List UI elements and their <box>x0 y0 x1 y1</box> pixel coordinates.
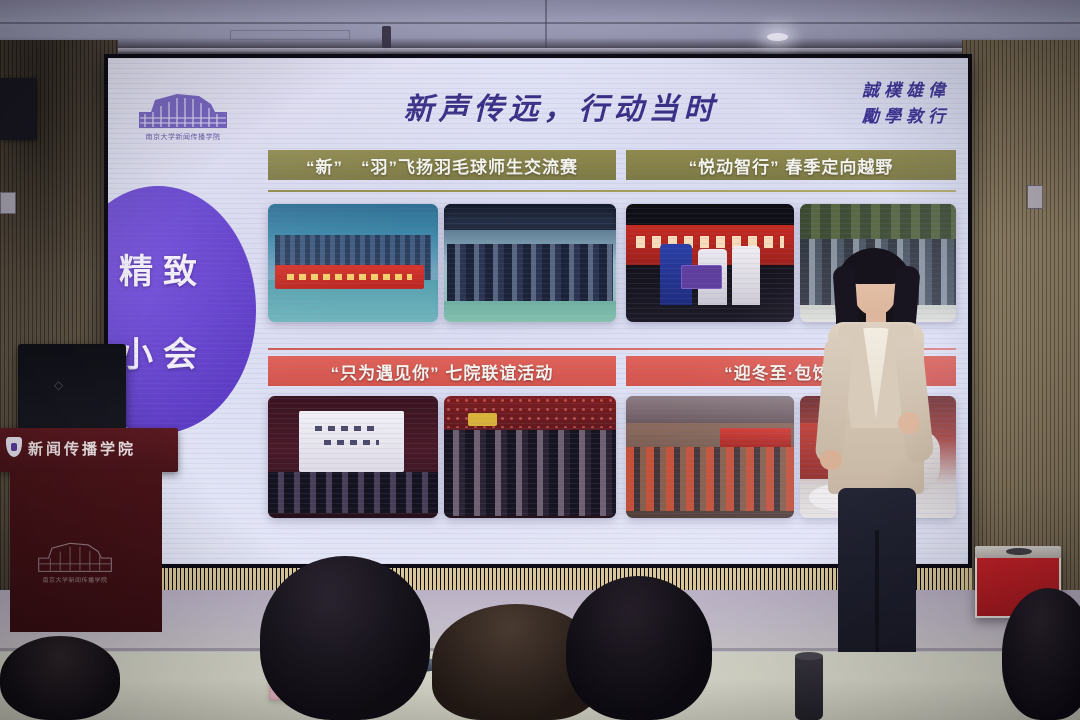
monitor-brand-icon: ◇ <box>54 378 64 392</box>
presenter-hand-left <box>820 450 842 470</box>
audience-head <box>566 576 712 720</box>
photo-1 <box>268 204 438 322</box>
slide-title: 新声传远，行动当时 <box>346 80 776 132</box>
ceiling-rail <box>230 30 350 40</box>
university-building-icon <box>29 540 121 573</box>
podium-label: 新闻传播学院 <box>28 438 136 459</box>
presentation-room-scene: 精致 小会 南京大学新闻传播学院 <box>0 0 1080 720</box>
audience-head <box>260 556 430 720</box>
ceiling-spotlight-icon <box>767 33 788 41</box>
motto-line-2: 勵學敦行 <box>862 104 950 130</box>
photo-3 <box>626 204 794 322</box>
podium-logo-caption: 南京大学新闻传播学院 <box>42 575 107 584</box>
presenter-hand-right <box>898 412 920 434</box>
photo-7 <box>626 396 794 518</box>
ceiling <box>0 0 1080 52</box>
motto-line-1: 誠樸雄偉 <box>862 78 950 104</box>
podium-school-logo: 南京大学新闻传播学院 <box>36 540 114 584</box>
wall-plate-left <box>0 192 16 214</box>
ceiling-joint <box>545 0 547 52</box>
photo-5 <box>268 396 438 518</box>
divider-gold <box>268 190 956 192</box>
presenter <box>800 244 940 690</box>
accent-circle-line1: 精致 <box>109 244 207 293</box>
photo-2 <box>444 204 616 322</box>
tumbler-icon <box>795 654 823 720</box>
caption-bar-mixer: “只为遇见你” 七院联谊活动 <box>268 356 616 386</box>
caption-bar-badminton: “新” “羽”飞扬羽毛球师生交流赛 <box>268 150 616 180</box>
tumbler-lid-icon <box>795 652 823 660</box>
red-pedestal-box-slot <box>1006 548 1032 555</box>
slide-motto: 誠樸雄偉 勵學敦行 <box>862 78 950 130</box>
audience-head <box>0 636 120 720</box>
caption-bar-orienteering: “悦动智行” 春季定向越野 <box>626 150 956 180</box>
photo-6 <box>444 396 616 518</box>
slide-school-logo: 南京大学新闻传播学院 <box>134 80 232 142</box>
audience-head <box>1002 588 1080 720</box>
university-building-icon <box>137 90 229 130</box>
wall-plate-right <box>1027 185 1043 209</box>
wall-speaker-icon <box>0 78 36 140</box>
slide-logo-caption: 南京大学新闻传播学院 <box>146 132 221 142</box>
presenter-hair-top <box>848 250 902 284</box>
ceiling-seam <box>0 22 1080 24</box>
ceiling-projector-icon <box>382 26 391 50</box>
podium-monitor: ◇ <box>18 344 126 440</box>
